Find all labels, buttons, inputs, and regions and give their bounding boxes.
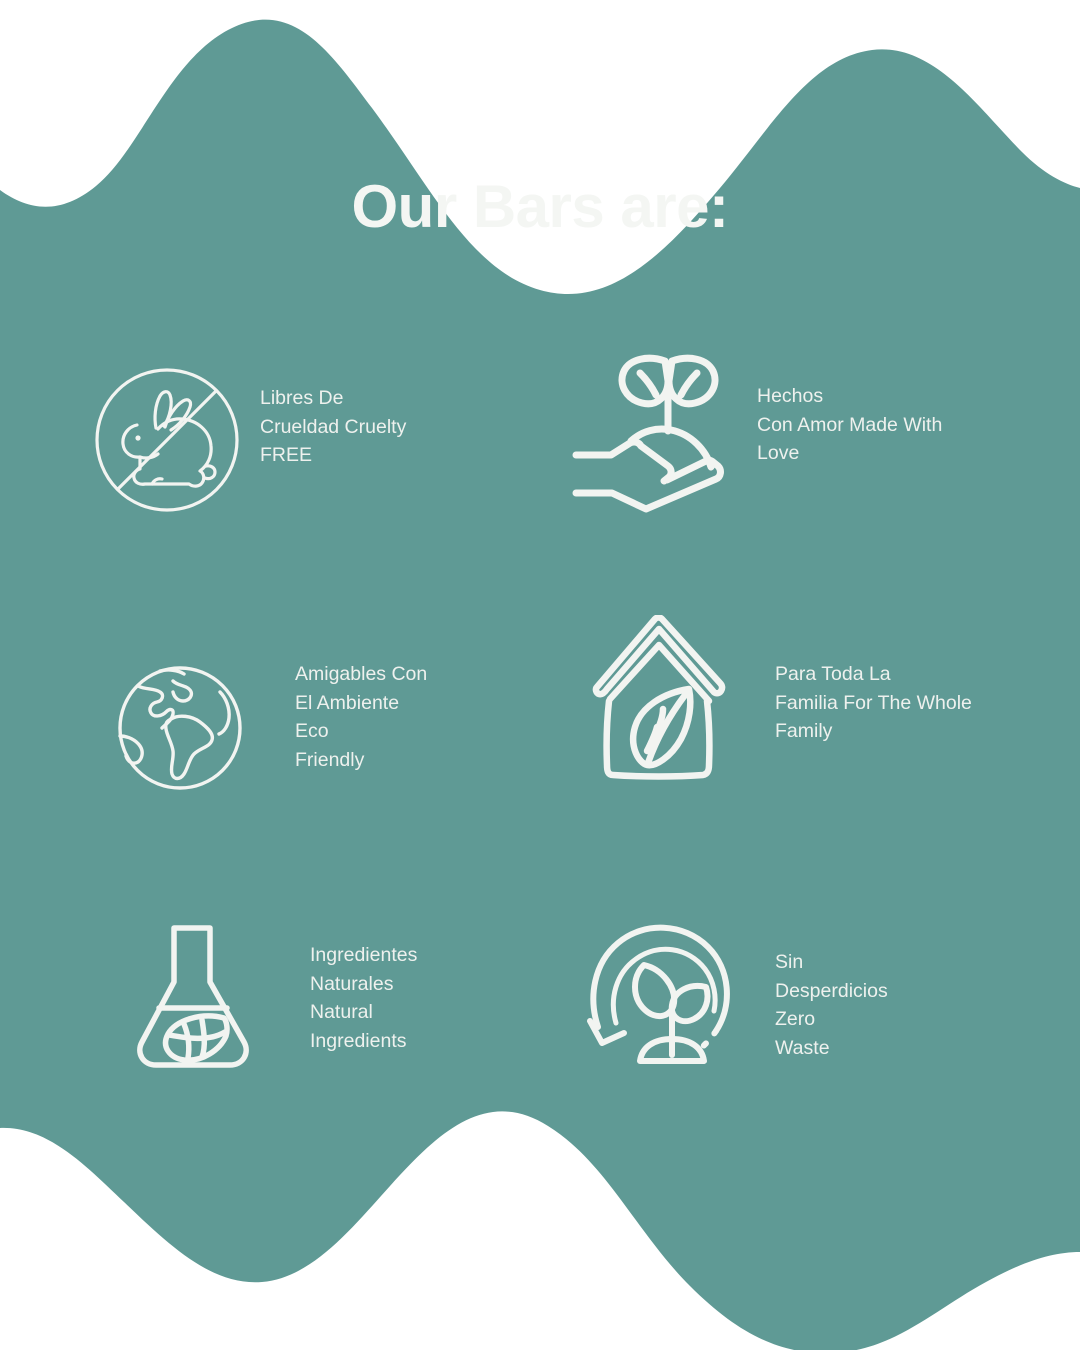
feature-labels: Amigables Con El Ambiente Eco Friendly — [265, 640, 515, 774]
feature-line: El Ambiente — [295, 689, 515, 718]
feature-line: Para Toda La — [775, 660, 1025, 689]
no-cruelty-bunny-icon — [82, 352, 252, 527]
feature-line: Zero — [775, 1005, 1015, 1034]
feature-line: FREE — [260, 441, 502, 470]
feature-line: Crueldad Cruelty — [260, 413, 502, 442]
feature-labels: Ingredientes Naturales Natural Ingredien… — [278, 908, 528, 1055]
feature-line: Family — [775, 717, 1025, 746]
flask-leaf-icon — [108, 908, 278, 1083]
feature-line: Friendly — [295, 746, 515, 775]
page-title: Our Bars are: — [0, 172, 1080, 241]
feature-item-whole-family[interactable]: Para Toda La Familia For The Whole Famil… — [575, 612, 1025, 787]
feature-labels: Sin Desperdicios Zero Waste — [745, 908, 1015, 1062]
feature-line: Ingredientes — [310, 941, 528, 970]
feature-labels: Hechos Con Amor Made With Love — [735, 340, 1005, 468]
feature-line: Love — [757, 439, 1005, 468]
feature-labels: Libres De Crueldad Cruelty FREE — [252, 352, 502, 470]
feature-line: Waste — [775, 1034, 1015, 1063]
feature-line: Sin — [775, 948, 1015, 977]
feature-line: Ingredients — [310, 1027, 528, 1056]
feature-line: Naturales — [310, 970, 528, 999]
feature-item-natural-ingredients[interactable]: Ingredientes Naturales Natural Ingredien… — [108, 908, 528, 1083]
feature-labels: Para Toda La Familia For The Whole Famil… — [745, 612, 1025, 746]
feature-line: Libres De — [260, 384, 502, 413]
feature-line: Familia For The Whole — [775, 689, 1025, 718]
feature-item-eco-friendly[interactable]: Amigables Con El Ambiente Eco Friendly — [95, 640, 515, 815]
feature-item-zero-waste[interactable]: Sin Desperdicios Zero Waste — [575, 908, 1015, 1083]
feature-line: Desperdicios — [775, 977, 1015, 1006]
hand-holding-sprout-icon — [565, 340, 735, 515]
recycle-sprout-icon — [575, 908, 745, 1083]
globe-earth-icon — [95, 640, 265, 815]
feature-item-made-with-love[interactable]: Hechos Con Amor Made With Love — [565, 340, 1005, 515]
feature-line: Eco — [295, 717, 515, 746]
house-leaf-icon — [575, 612, 745, 787]
poster-canvas: Our Bars are: — [0, 0, 1080, 1350]
feature-line: Natural — [310, 998, 528, 1027]
feature-line: Con Amor Made With — [757, 411, 1005, 440]
wave-bottom-shape — [0, 1111, 1080, 1350]
feature-item-cruelty-free[interactable]: Libres De Crueldad Cruelty FREE — [82, 352, 502, 527]
feature-line: Amigables Con — [295, 660, 515, 689]
feature-line: Hechos — [757, 382, 1005, 411]
